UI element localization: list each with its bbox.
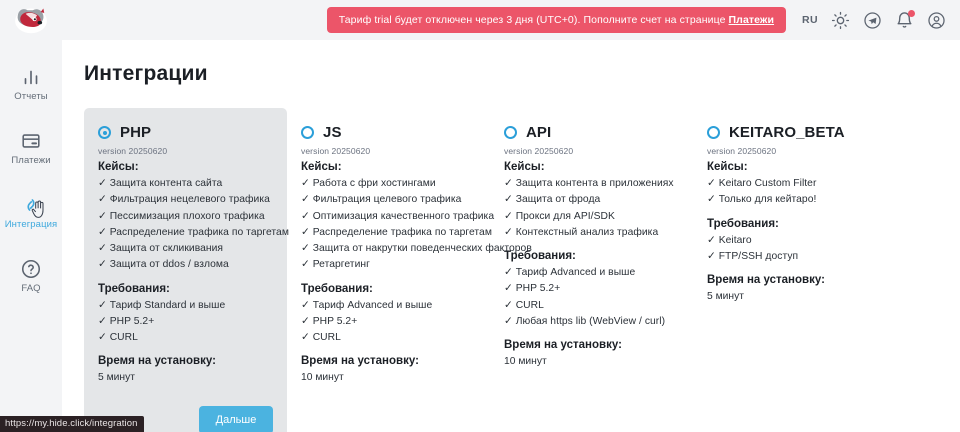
case-text: Распределение трафика по таргетам <box>313 227 492 238</box>
notifications-button[interactable] <box>895 11 914 30</box>
case-item: ✓Работа с фри хостингами <box>301 176 476 192</box>
case-item: ✓Защита от фрода <box>504 192 679 208</box>
case-text: Только для кейтаро! <box>719 194 817 205</box>
case-text: Оптимизация качественного трафика <box>313 211 494 222</box>
radio-keitaro_beta[interactable] <box>707 126 720 139</box>
case-text: Ретаргетинг <box>313 259 370 270</box>
cases-heading: Кейсы: <box>707 161 882 173</box>
card-header: API <box>504 124 679 141</box>
card-title: PHP <box>120 124 151 141</box>
check-icon: ✓ <box>301 243 310 254</box>
integration-card-keitaro_beta[interactable]: KEITARO_BETAversion 20250620Кейсы:✓Keita… <box>693 108 896 319</box>
card-version: version 20250620 <box>98 146 273 156</box>
install-time-heading: Время на установку: <box>98 355 273 367</box>
integration-card-php[interactable]: PHPversion 20250620Кейсы:✓Защита контент… <box>84 108 287 432</box>
sidebar-label-faq: FAQ <box>21 284 40 294</box>
requirement-item: ✓PHP 5.2+ <box>301 314 476 330</box>
case-item: ✓Фильтрация нецелевого трафика <box>98 192 273 208</box>
case-item: ✓Распределение трафика по таргетам <box>98 225 273 241</box>
integration-cards-row: PHPversion 20250620Кейсы:✓Защита контент… <box>84 108 944 432</box>
check-icon: ✓ <box>98 211 107 222</box>
header-spacer <box>62 0 327 40</box>
language-switcher[interactable]: RU <box>802 14 818 26</box>
cases-heading: Кейсы: <box>98 161 273 173</box>
requirement-text: PHP 5.2+ <box>516 283 561 294</box>
card-header: KEITARO_BETA <box>707 124 882 141</box>
check-icon: ✓ <box>504 316 513 327</box>
case-item: ✓Защита от ddos / взлома <box>98 257 273 273</box>
check-icon: ✓ <box>98 300 107 311</box>
install-time-value: 5 минут <box>98 370 273 385</box>
requirement-item: ✓Любая https lib (WebView / curl) <box>504 314 679 330</box>
check-icon: ✓ <box>504 194 513 205</box>
requirement-text: Keitaro <box>719 235 752 246</box>
check-icon: ✓ <box>707 251 716 262</box>
requirement-text: CURL <box>313 332 341 343</box>
case-text: Пессимизация плохого трафика <box>110 211 265 222</box>
requirement-item: ✓CURL <box>301 330 476 346</box>
radio-php[interactable] <box>98 126 111 139</box>
card-version: version 20250620 <box>707 146 882 156</box>
check-icon: ✓ <box>301 227 310 238</box>
case-text: Защита контента в приложениях <box>516 178 674 189</box>
check-icon: ✓ <box>301 300 310 311</box>
sidebar-item-integration[interactable]: Интеграция <box>0 186 62 238</box>
requirement-text: CURL <box>110 332 138 343</box>
case-item: ✓Контекстный анализ трафика <box>504 225 679 241</box>
case-item: ✓Фильтрация целевого трафика <box>301 192 476 208</box>
check-icon: ✓ <box>301 194 310 205</box>
case-item: ✓Прокси для API/SDK <box>504 209 679 225</box>
requirements-heading: Требования: <box>504 250 679 262</box>
install-time-heading: Время на установку: <box>504 339 679 351</box>
radio-api[interactable] <box>504 126 517 139</box>
requirement-text: PHP 5.2+ <box>110 316 155 327</box>
requirement-text: Любая https lib (WebView / curl) <box>516 316 665 327</box>
case-text: Keitaro Custom Filter <box>719 178 817 189</box>
main-content: Интеграции PHPversion 20250620Кейсы:✓Защ… <box>62 40 960 432</box>
alert-payments-link[interactable]: Платежи <box>729 14 775 26</box>
check-icon: ✓ <box>504 267 513 278</box>
install-time-heading: Время на установку: <box>301 355 476 367</box>
check-icon: ✓ <box>98 227 107 238</box>
check-icon: ✓ <box>98 243 107 254</box>
requirement-item: ✓Keitaro <box>707 233 882 249</box>
case-text: Прокси для API/SDK <box>516 211 615 222</box>
case-text: Фильтрация нецелевого трафика <box>110 194 270 205</box>
case-text: Фильтрация целевого трафика <box>313 194 462 205</box>
requirements-heading: Требования: <box>98 283 273 295</box>
check-icon: ✓ <box>301 316 310 327</box>
check-icon: ✓ <box>504 283 513 294</box>
integration-card-js[interactable]: JSversion 20250620Кейсы:✓Работа с фри хо… <box>287 108 490 400</box>
check-icon: ✓ <box>98 259 107 270</box>
requirements-heading: Требования: <box>707 218 882 230</box>
requirement-text: PHP 5.2+ <box>313 316 358 327</box>
sidebar-item-reports[interactable]: Отчеты <box>0 58 62 110</box>
case-item: ✓Защита от накрутки поведенческих фактор… <box>301 241 476 257</box>
check-icon: ✓ <box>504 178 513 189</box>
case-item: ✓Пессимизация плохого трафика <box>98 209 273 225</box>
case-text: Защита от ddos / взлома <box>110 259 229 270</box>
card-version: version 20250620 <box>504 146 679 156</box>
requirement-text: Тариф Advanced и выше <box>313 300 433 311</box>
case-text: Защита от фрода <box>516 194 601 205</box>
top-header: Тариф trial будет отключен через 3 дня (… <box>0 0 960 40</box>
check-icon: ✓ <box>301 178 310 189</box>
requirement-item: ✓Тариф Advanced и выше <box>504 265 679 281</box>
next-button[interactable]: Дальше <box>199 406 273 432</box>
check-icon: ✓ <box>504 227 513 238</box>
case-text: Защита от скликивания <box>110 243 223 254</box>
card-title: JS <box>323 124 342 141</box>
requirements-heading: Требования: <box>301 283 476 295</box>
case-item: ✓Защита от скликивания <box>98 241 273 257</box>
radio-js[interactable] <box>301 126 314 139</box>
case-item: ✓Оптимизация качественного трафика <box>301 209 476 225</box>
requirement-item: ✓Тариф Advanced и выше <box>301 298 476 314</box>
check-icon: ✓ <box>301 211 310 222</box>
trial-alert-banner: Тариф trial будет отключен через 3 дня (… <box>327 7 786 33</box>
bar-chart-icon <box>20 66 42 88</box>
case-item: ✓Ретаргетинг <box>301 257 476 273</box>
check-icon: ✓ <box>301 332 310 343</box>
integration-card-api[interactable]: APIversion 20250620Кейсы:✓Защита контент… <box>490 108 693 384</box>
check-icon: ✓ <box>98 316 107 327</box>
requirement-item: ✓Тариф Standard и выше <box>98 298 273 314</box>
install-time-value: 10 минут <box>301 370 476 385</box>
notification-badge-dot <box>908 10 915 17</box>
requirement-item: ✓PHP 5.2+ <box>504 281 679 297</box>
install-time-value: 5 минут <box>707 289 882 304</box>
requirement-item: ✓CURL <box>504 298 679 314</box>
card-title: KEITARO_BETA <box>729 124 845 141</box>
requirement-item: ✓CURL <box>98 330 273 346</box>
cases-heading: Кейсы: <box>504 161 679 173</box>
page-title: Интеграции <box>84 62 944 86</box>
logo-container[interactable] <box>0 0 62 40</box>
raccoon-logo <box>13 5 49 35</box>
check-icon: ✓ <box>707 178 716 189</box>
case-item: ✓Только для кейтаро! <box>707 192 882 208</box>
card-header: PHP <box>98 124 273 141</box>
sidebar-label-reports: Отчеты <box>14 92 47 102</box>
check-icon: ✓ <box>301 259 310 270</box>
requirement-text: FTP/SSH доступ <box>719 251 798 262</box>
card-header: JS <box>301 124 476 141</box>
sidebar-item-payments[interactable]: Платежи <box>0 122 62 174</box>
case-text: Защита контента сайта <box>110 178 223 189</box>
requirement-item: ✓FTP/SSH доступ <box>707 249 882 265</box>
question-circle-icon <box>20 258 42 280</box>
case-item: ✓Keitaro Custom Filter <box>707 176 882 192</box>
requirement-text: CURL <box>516 300 544 311</box>
integration-link-icon <box>20 194 42 216</box>
check-icon: ✓ <box>504 300 513 311</box>
brightness-icon[interactable] <box>831 11 850 30</box>
check-icon: ✓ <box>504 211 513 222</box>
header-tools: RU <box>786 0 960 40</box>
case-text: Контекстный анализ трафика <box>516 227 659 238</box>
check-icon: ✓ <box>707 194 716 205</box>
case-text: Работа с фри хостингами <box>313 178 436 189</box>
sidebar-item-faq[interactable]: FAQ <box>0 250 62 302</box>
case-item: ✓Распределение трафика по таргетам <box>301 225 476 241</box>
account-icon[interactable] <box>927 11 946 30</box>
requirement-text: Тариф Advanced и выше <box>516 267 636 278</box>
alert-text: Тариф trial будет отключен через 3 дня (… <box>339 14 726 26</box>
card-version: version 20250620 <box>301 146 476 156</box>
check-icon: ✓ <box>98 178 107 189</box>
case-text: Распределение трафика по таргетам <box>110 227 289 238</box>
requirement-item: ✓PHP 5.2+ <box>98 314 273 330</box>
case-item: ✓Защита контента в приложениях <box>504 176 679 192</box>
credit-card-icon <box>20 130 42 152</box>
card-title: API <box>526 124 551 141</box>
check-icon: ✓ <box>98 194 107 205</box>
check-icon: ✓ <box>707 235 716 246</box>
check-icon: ✓ <box>98 332 107 343</box>
app-root: Тариф trial будет отключен через 3 дня (… <box>0 0 960 432</box>
telegram-icon[interactable] <box>863 11 882 30</box>
sidebar-label-integration: Интеграция <box>5 220 58 230</box>
browser-status-bar: https://my.hide.click/integration <box>0 416 144 432</box>
install-time-heading: Время на установку: <box>707 274 882 286</box>
requirement-text: Тариф Standard и выше <box>110 300 226 311</box>
sidebar-label-payments: Платежи <box>11 156 50 166</box>
cases-heading: Кейсы: <box>301 161 476 173</box>
install-time-value: 10 минут <box>504 354 679 369</box>
left-sidebar: Отчеты Платежи Интеграция <box>0 40 62 432</box>
case-item: ✓Защита контента сайта <box>98 176 273 192</box>
